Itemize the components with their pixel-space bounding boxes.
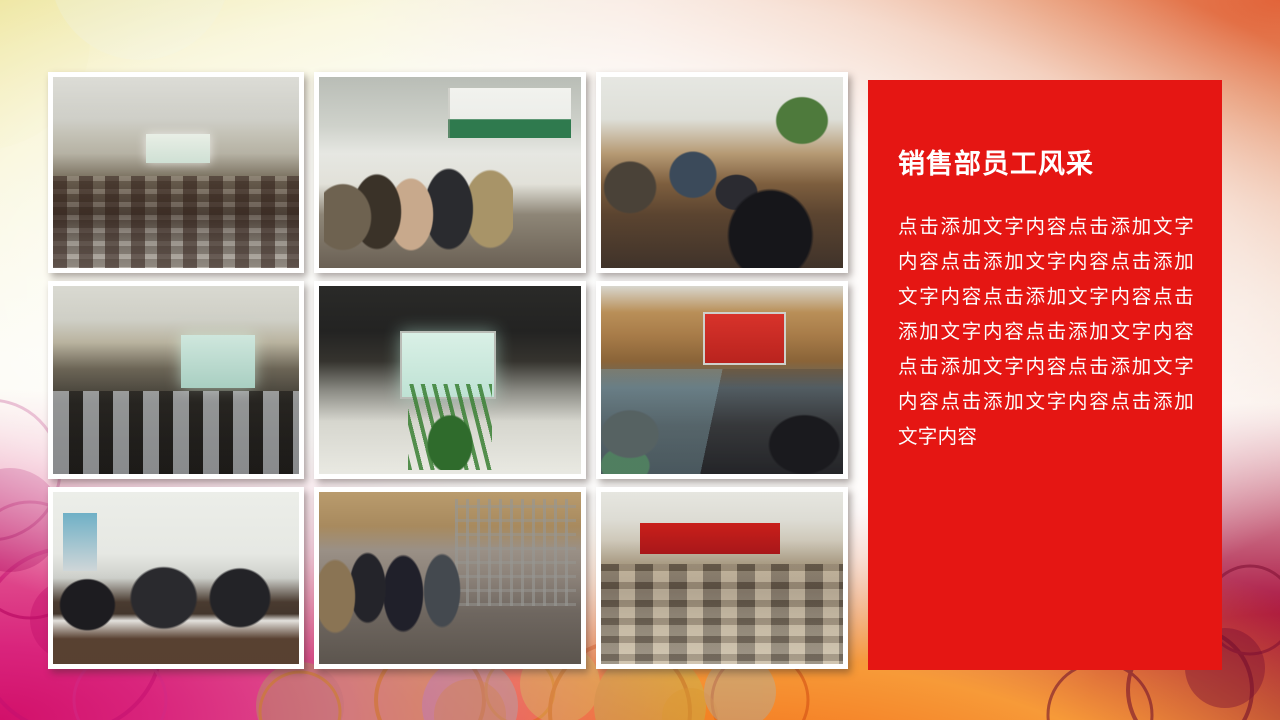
photo-9-content: [601, 492, 843, 664]
photo-frame-5[interactable]: [314, 281, 586, 479]
photo-image-3: [601, 77, 843, 268]
photo-frame-4[interactable]: [48, 281, 304, 479]
photo-frame-6[interactable]: [596, 281, 848, 479]
photo-image-1: [53, 77, 299, 268]
photo-frame-8[interactable]: [314, 487, 586, 669]
photo-image-7: [53, 492, 299, 664]
panel-title: 销售部员工风采: [898, 148, 1194, 180]
photo-image-9: [601, 492, 843, 664]
photo-4-content: [53, 286, 299, 474]
photo-image-6: [601, 286, 843, 474]
photo-6-content: [601, 286, 843, 474]
photo-frame-1[interactable]: [48, 72, 304, 273]
photo-frame-9[interactable]: [596, 487, 848, 669]
photo-frame-7[interactable]: [48, 487, 304, 669]
photo-image-8: [319, 492, 581, 664]
photo-7-content: [53, 492, 299, 664]
red-text-panel: 销售部员工风采 点击添加文字内容点击添加文字内容点击添加文字内容点击添加文字内容…: [868, 80, 1222, 670]
slide-canvas: 销售部员工风采 点击添加文字内容点击添加文字内容点击添加文字内容点击添加文字内容…: [0, 0, 1280, 720]
photo-gallery-grid: [48, 72, 848, 670]
photo-image-4: [53, 286, 299, 474]
photo-8-content: [319, 492, 581, 664]
panel-body-text: 点击添加文字内容点击添加文字内容点击添加文字内容点击添加文字内容点击添加文字内容…: [898, 210, 1194, 455]
photo-2-content: [319, 77, 581, 268]
photo-image-5: [319, 286, 581, 474]
photo-image-2: [319, 77, 581, 268]
photo-frame-2[interactable]: [314, 72, 586, 273]
photo-3-content: [601, 77, 843, 268]
photo-5-content: [319, 286, 581, 474]
photo-1-content: [53, 77, 299, 268]
photo-frame-3[interactable]: [596, 72, 848, 273]
